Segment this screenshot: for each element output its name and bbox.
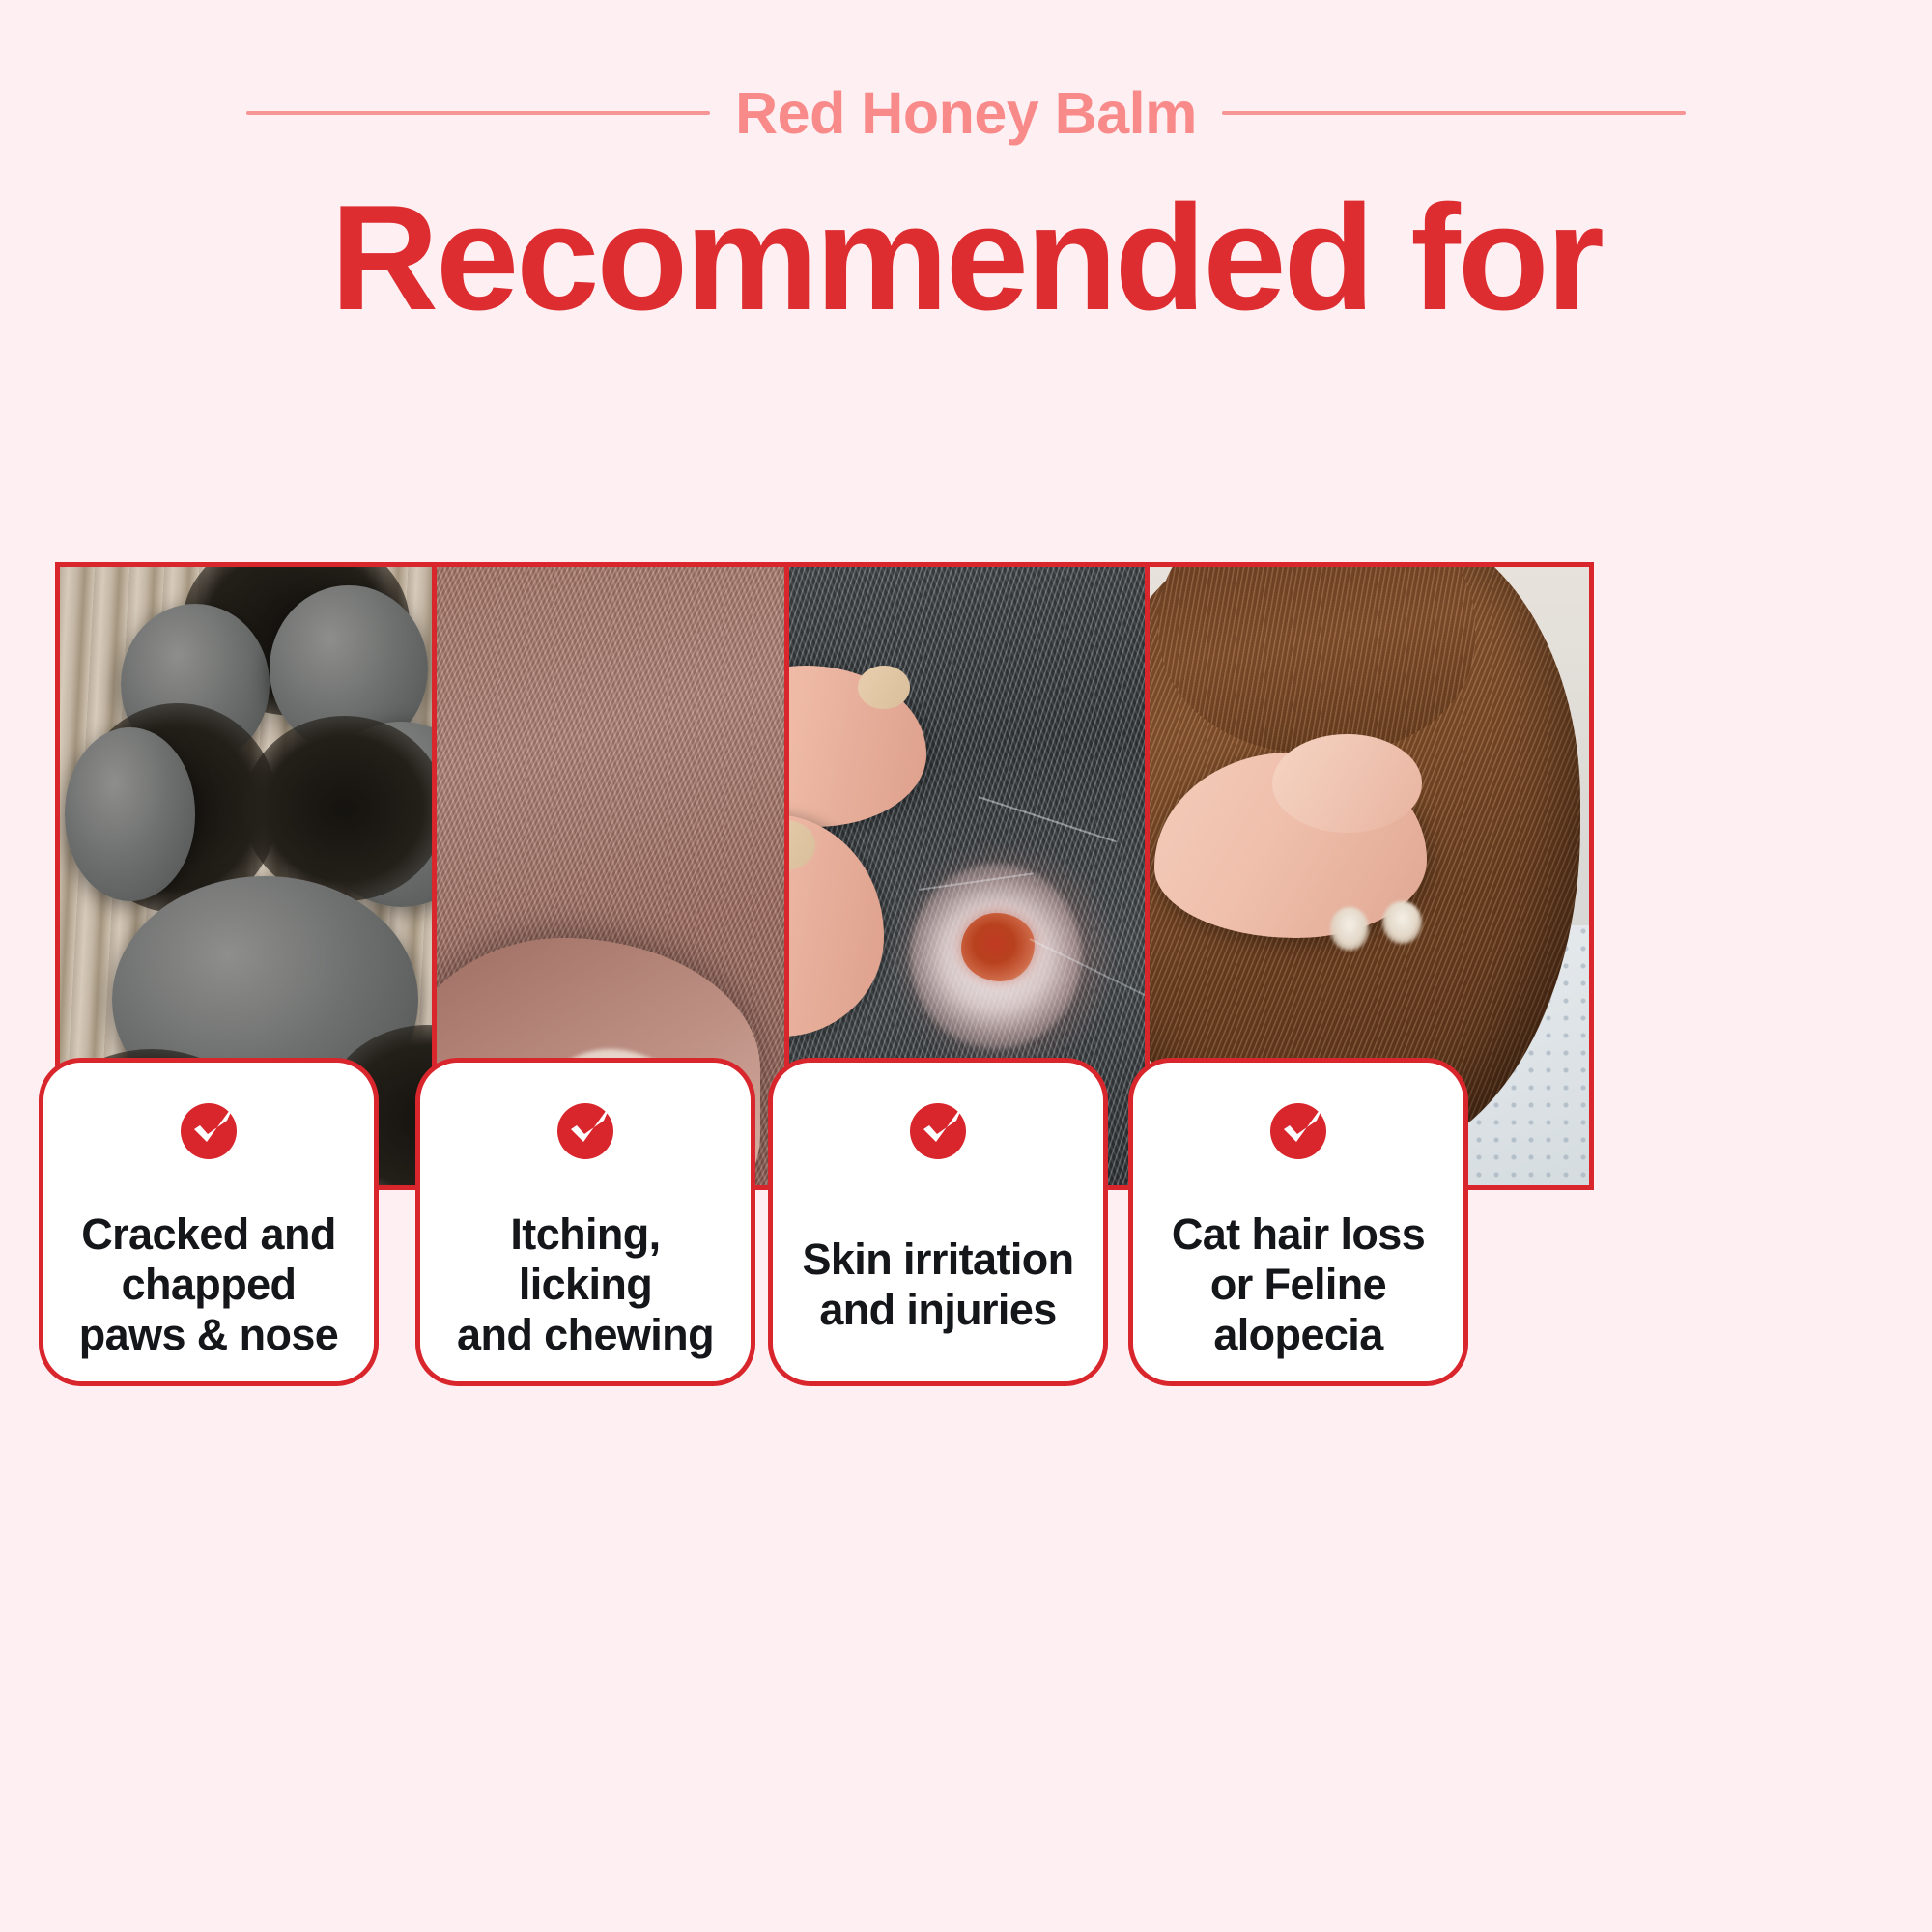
card-label: Skin irritation and injuries: [802, 1235, 1073, 1335]
card-label: Itching, licking and chewing: [457, 1209, 714, 1361]
card-grid: Cracked and chapped paws & nose Itching,…: [0, 0, 1932, 1932]
card-text-panel: Skin irritation and injuries: [768, 1058, 1108, 1386]
card-label: Cracked and chapped paws & nose: [79, 1209, 338, 1361]
card-text-panel: Cat hair loss or Feline alopecia: [1128, 1058, 1468, 1386]
check-circle-icon: [181, 1103, 237, 1159]
card-text-panel: Itching, licking and chewing: [415, 1058, 755, 1386]
card-text-panel: Cracked and chapped paws & nose: [39, 1058, 379, 1386]
check-circle-icon: [557, 1103, 613, 1159]
check-circle-icon: [910, 1103, 966, 1159]
card-label: Cat hair loss or Feline alopecia: [1172, 1209, 1425, 1361]
check-circle-icon: [1270, 1103, 1326, 1159]
